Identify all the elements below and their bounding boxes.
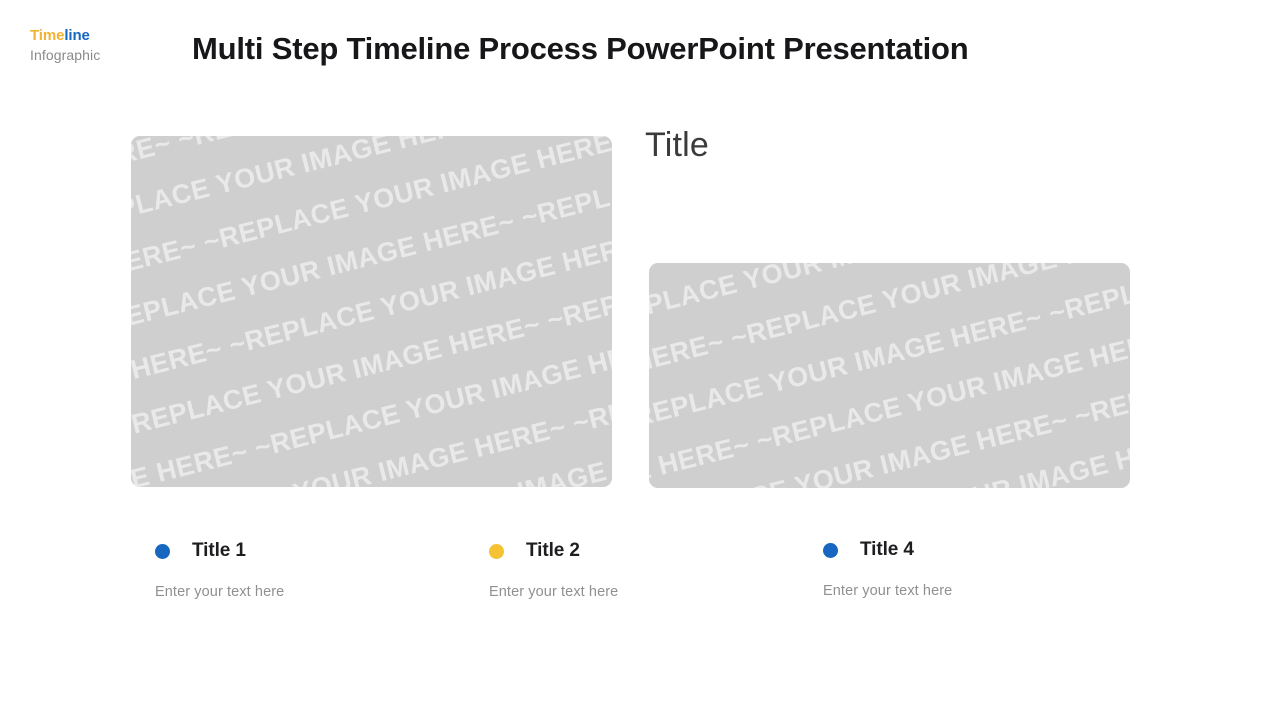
watermark-line: ~REPLACE YOUR IMAGE HERE~ ~REPLACE YOUR … bbox=[131, 136, 612, 347]
watermark-line: ~REPLACE YOUR IMAGE HERE~ ~REPLACE YOUR … bbox=[131, 136, 612, 449]
watermark-line: ~REPLACE YOUR IMAGE HERE~ ~REPLACE YOUR … bbox=[649, 385, 1130, 488]
step-description[interactable]: Enter your text here bbox=[489, 584, 789, 600]
watermark-line: ~REPLACE YOUR IMAGE HERE~ ~REPLACE YOUR … bbox=[649, 334, 1130, 488]
brand-name: Timeline bbox=[30, 28, 100, 44]
watermark-line: ~REPLACE YOUR IMAGE HERE~ ~REPLACE YOUR … bbox=[131, 136, 612, 367]
watermark-line: ~REPLACE YOUR IMAGE HERE~ ~REPLACE YOUR … bbox=[649, 282, 1130, 488]
bullet-dot-icon bbox=[489, 544, 504, 559]
watermark-line: ~REPLACE YOUR IMAGE HERE~ ~REPLACE YOUR … bbox=[131, 238, 612, 487]
brand-name-part2: line bbox=[64, 27, 89, 44]
watermark-line: ~REPLACE YOUR IMAGE HERE~ ~REPLACE YOUR … bbox=[131, 136, 612, 141]
step-header: Title 1 bbox=[155, 540, 455, 562]
image-placeholder-wide[interactable]: ~REPLACE YOUR IMAGE HERE~ ~REPLACE YOUR … bbox=[649, 263, 1130, 488]
step-description[interactable]: Enter your text here bbox=[823, 583, 1123, 599]
watermark-line: ~REPLACE YOUR IMAGE HERE~ ~REPLACE YOUR … bbox=[131, 136, 612, 264]
image-placeholder-large[interactable]: ~REPLACE YOUR IMAGE HERE~ ~REPLACE YOUR … bbox=[131, 136, 612, 487]
step-header: Title 2 bbox=[489, 540, 789, 562]
bullet-dot-icon bbox=[823, 543, 838, 558]
step-title: Title 4 bbox=[860, 539, 914, 561]
brand-logo: Timeline Infographic bbox=[30, 28, 100, 62]
watermark-line: ~REPLACE YOUR IMAGE HERE~ ~REPLACE YOUR … bbox=[649, 263, 1130, 359]
watermark-line: ~REPLACE YOUR IMAGE HERE~ ~REPLACE YOUR … bbox=[649, 263, 1130, 442]
bullet-dot-icon bbox=[155, 544, 170, 559]
step-description[interactable]: Enter your text here bbox=[155, 584, 455, 600]
section-title: Title bbox=[645, 126, 709, 165]
step-title: Title 2 bbox=[526, 540, 580, 562]
placeholder-watermark: ~REPLACE YOUR IMAGE HERE~ ~REPLACE YOUR … bbox=[649, 263, 1130, 488]
watermark-line: ~REPLACE YOUR IMAGE HERE~ ~REPLACE YOUR … bbox=[131, 136, 612, 244]
brand-subtitle: Infographic bbox=[30, 48, 100, 63]
watermark-line: ~REPLACE YOUR IMAGE HERE~ ~REPLACE YOUR … bbox=[649, 263, 1130, 488]
step-title: Title 1 bbox=[192, 540, 246, 562]
step-item-2[interactable]: Title 2 Enter your text here bbox=[489, 540, 789, 600]
page-title: Multi Step Timeline Process PowerPoint P… bbox=[192, 31, 968, 67]
placeholder-watermark: ~REPLACE YOUR IMAGE HERE~ ~REPLACE YOUR … bbox=[131, 136, 612, 487]
watermark-line: ~REPLACE YOUR IMAGE HERE~ ~REPLACE YOUR … bbox=[131, 341, 612, 487]
watermark-line: ~REPLACE YOUR IMAGE HERE~ ~REPLACE YOUR … bbox=[649, 263, 1130, 462]
watermark-line: ~REPLACE YOUR IMAGE HERE~ ~REPLACE YOUR … bbox=[649, 437, 1130, 488]
watermark-line: ~REPLACE YOUR IMAGE HERE~ ~REPLACE YOUR … bbox=[649, 263, 1130, 339]
watermark-line: ~REPLACE YOUR IMAGE HERE~ ~REPLACE YOUR … bbox=[131, 136, 612, 161]
slide-canvas: Timeline Infographic Multi Step Timeline… bbox=[0, 0, 1280, 720]
step-item-3[interactable]: Title 4 Enter your text here bbox=[823, 539, 1123, 599]
brand-name-part1: Time bbox=[30, 27, 64, 44]
watermark-line: ~REPLACE YOUR IMAGE HERE~ ~REPLACE YOUR … bbox=[131, 290, 612, 487]
watermark-line: ~REPLACE YOUR IMAGE HERE~ ~REPLACE YOUR … bbox=[131, 393, 612, 487]
watermark-line: ~REPLACE YOUR IMAGE HERE~ ~REPLACE YOUR … bbox=[131, 187, 612, 470]
step-header: Title 4 bbox=[823, 539, 1123, 561]
step-item-1[interactable]: Title 1 Enter your text here bbox=[155, 540, 455, 600]
